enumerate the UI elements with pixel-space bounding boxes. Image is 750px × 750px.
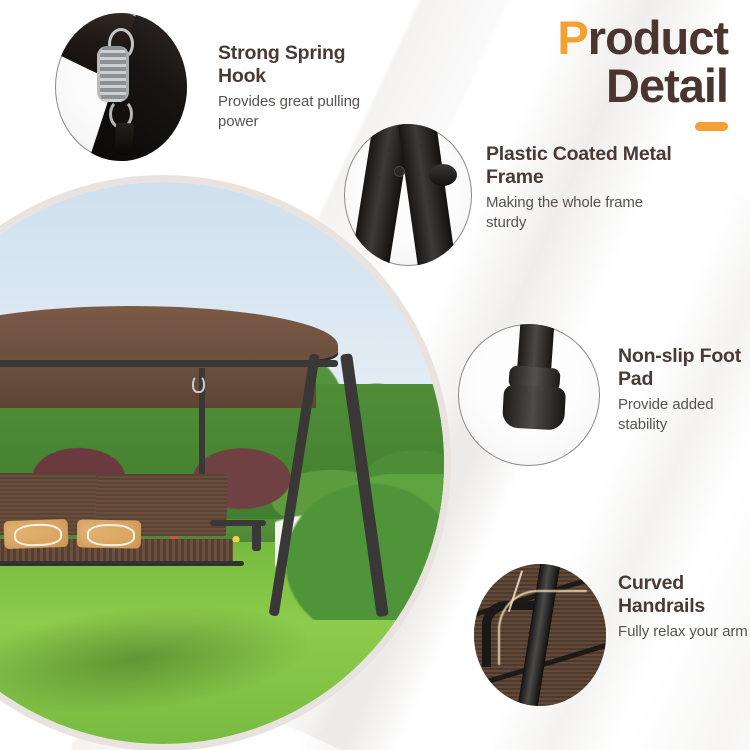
feature-photo-strong-spring-hook — [55, 13, 187, 161]
callout-non-slip-foot-pad: Non-slip Foot Pad Provide added stabilit… — [618, 345, 750, 434]
callout-description: Fully relax your arm — [618, 622, 750, 642]
callout-description: Provides great pulling power — [218, 92, 398, 131]
spring-hook-icon — [192, 375, 205, 393]
title-line-1: Product — [557, 14, 728, 62]
feature-photo-plastic-coated-metal-frame — [344, 124, 472, 266]
feature-photo-non-slip-foot-pad — [458, 324, 600, 466]
callout-curved-handrails: Curved Handrails Fully relax your arm — [618, 572, 750, 642]
spring-coil — [97, 46, 129, 102]
main-product-photo — [0, 182, 444, 744]
swing-bench — [0, 473, 244, 591]
frame-end-cap — [429, 164, 457, 186]
title-line-1-rest: roduct — [588, 11, 728, 64]
callout-description: Making the whole frame sturdy — [486, 193, 676, 232]
product-detail-infographic: Product Detail — [0, 0, 750, 750]
armrest-post — [252, 520, 260, 551]
seat-frame-bar — [0, 561, 244, 567]
throw-pillow — [4, 519, 69, 550]
page-title: Product Detail — [557, 14, 728, 131]
callout-title: Non-slip Foot Pad — [618, 345, 750, 391]
canopy-frame-bar — [0, 360, 338, 368]
callout-title: Curved Handrails — [618, 572, 750, 618]
callout-strong-spring-hook: Strong Spring Hook Provides great pullin… — [218, 42, 398, 131]
title-underline-dash — [695, 122, 728, 131]
callout-title: Plastic Coated Metal Frame — [486, 143, 676, 189]
throw-pillow — [76, 520, 141, 550]
feature-photo-curved-handrails — [474, 564, 606, 706]
callout-description: Provide added stability — [618, 395, 750, 434]
title-accent-letter: P — [557, 11, 587, 64]
swing-canopy — [0, 306, 338, 362]
callout-title: Strong Spring Hook — [218, 42, 398, 88]
patio-swing — [0, 306, 365, 654]
hanging-strap — [114, 122, 134, 155]
callout-plastic-coated-metal-frame: Plastic Coated Metal Frame Making the wh… — [486, 143, 676, 232]
title-line-2: Detail — [557, 62, 728, 110]
coated-tube — [396, 124, 459, 266]
garden-scene — [0, 182, 444, 744]
non-slip-foot-pad — [502, 385, 567, 431]
frame-bolt — [395, 167, 404, 176]
